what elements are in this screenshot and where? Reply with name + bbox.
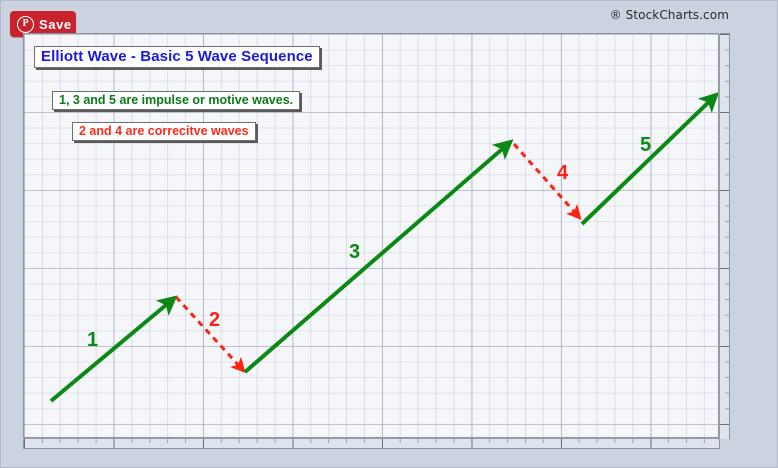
wave-label-2: 2 <box>209 309 220 332</box>
wave-4-arrow <box>514 144 578 216</box>
page-background: P Save ® StockCharts.com Elliott Wave - … <box>0 0 778 468</box>
wave-label-5: 5 <box>640 134 651 157</box>
save-button-label: Save <box>39 17 72 32</box>
annotation-corrective: 2 and 4 are correcitve waves <box>72 122 256 141</box>
annotation-title: Elliott Wave - Basic 5 Wave Sequence <box>34 46 320 68</box>
stockcharts-credit: ® StockCharts.com <box>610 8 729 22</box>
chart-frame: Elliott Wave - Basic 5 Wave Sequence 1, … <box>23 33 738 455</box>
wave-3-arrow <box>245 144 508 372</box>
wave-1-arrow <box>51 300 172 401</box>
annotation-impulse: 1, 3 and 5 are impulse or motive waves. <box>52 91 300 110</box>
wave-label-3: 3 <box>349 241 360 264</box>
chart-plot-area: Elliott Wave - Basic 5 Wave Sequence 1, … <box>23 33 719 438</box>
vertical-ruler <box>720 33 730 439</box>
pinterest-icon: P <box>17 16 34 33</box>
wave-label-1: 1 <box>87 329 98 352</box>
wave-label-4: 4 <box>557 162 568 185</box>
wave-2-arrow <box>176 297 242 369</box>
wave-5-arrow <box>582 97 714 224</box>
horizontal-ruler <box>23 439 720 449</box>
